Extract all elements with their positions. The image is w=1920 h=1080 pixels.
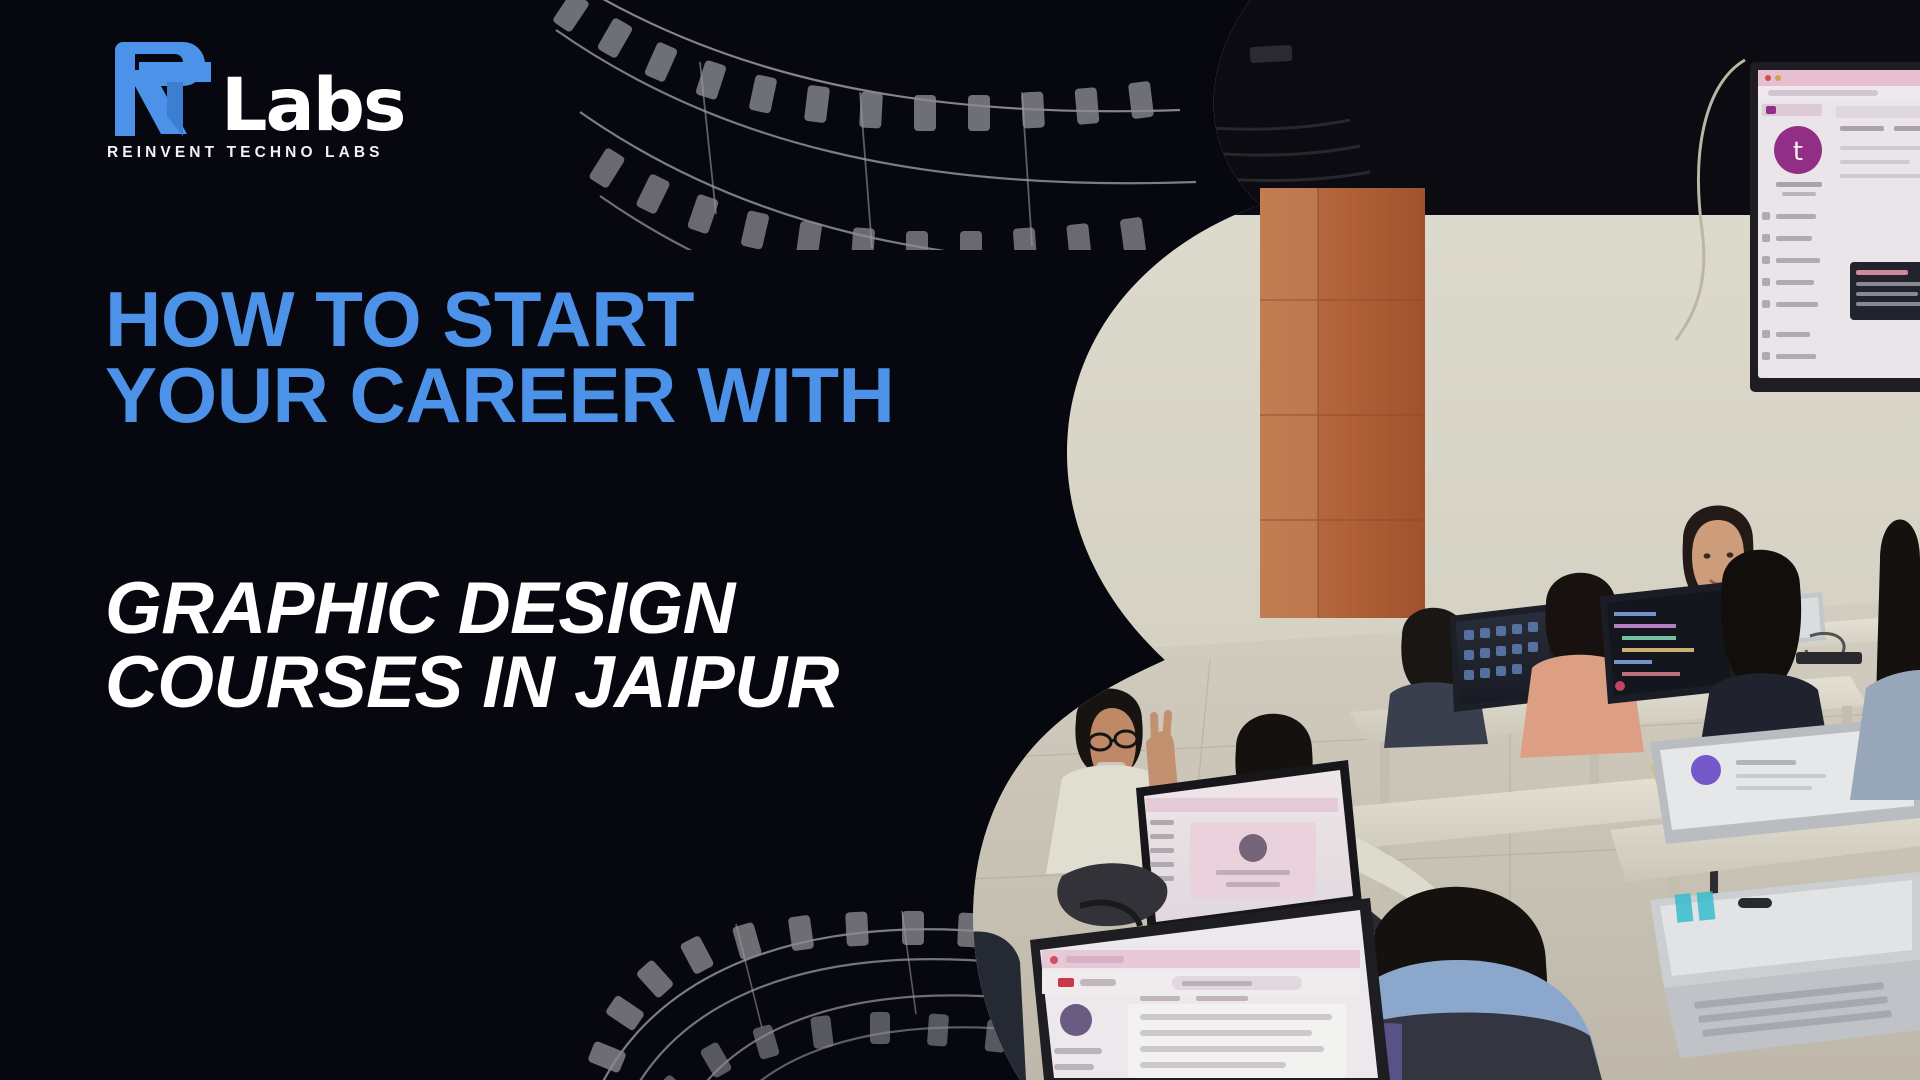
- left-content-column: Labs REINVENT TECHNO LABS HOW TO START Y…: [0, 0, 950, 1080]
- classroom-photo: t: [950, 0, 1920, 1080]
- blog-banner: t: [0, 0, 1920, 1080]
- page-headline: HOW TO START YOUR CAREER WITH: [105, 282, 905, 433]
- brand-logo[interactable]: Labs REINVENT TECHNO LABS: [105, 32, 445, 172]
- rt-monogram-icon: [105, 32, 227, 140]
- brand-wordmark: Labs: [221, 76, 404, 140]
- page-subheadline: GRAPHIC DESIGN COURSES IN JAIPUR: [105, 572, 925, 721]
